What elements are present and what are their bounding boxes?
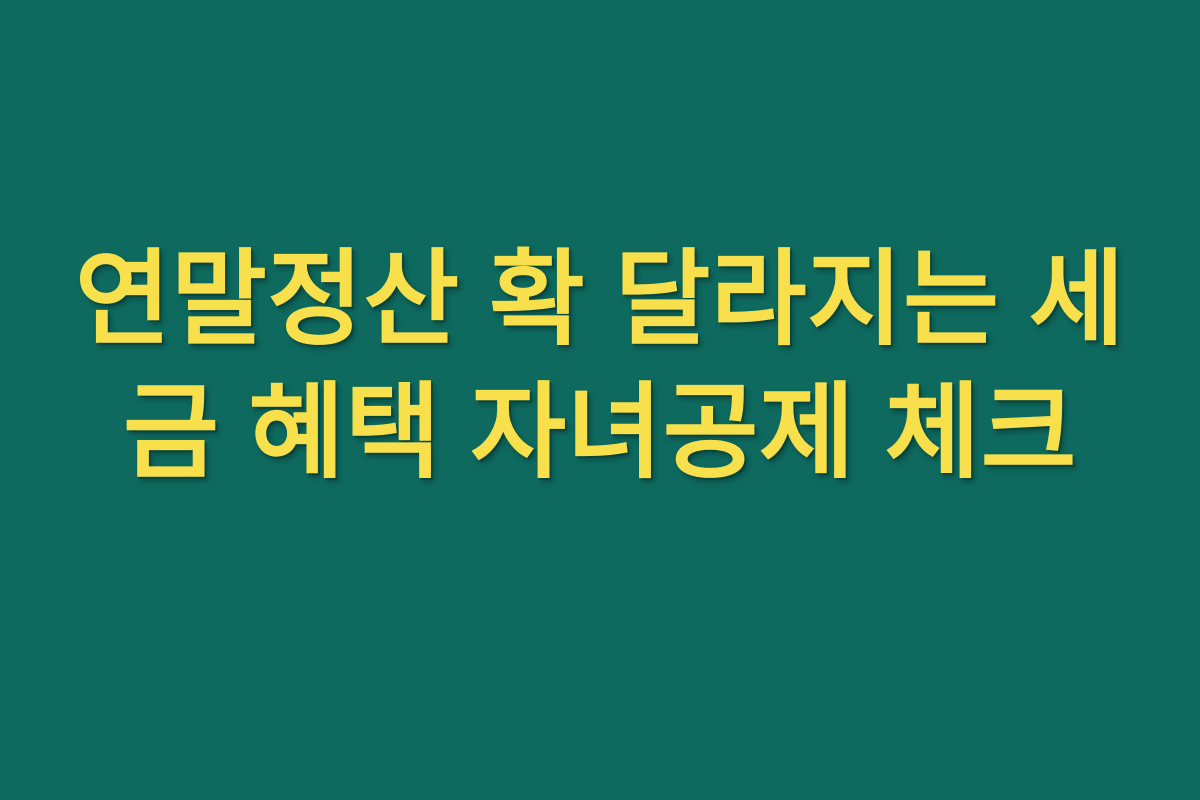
headline-text-block: 연말정산 확 달라지는 세 금 혜택 자녀공제 체크 (0, 0, 1200, 800)
headline-line-2: 금 혜택 자녀공제 체크 (0, 367, 1200, 500)
banner-canvas: 연말정산 확 달라지는 세 금 혜택 자녀공제 체크 (0, 0, 1200, 800)
headline-line-1: 연말정산 확 달라지는 세 (0, 234, 1200, 367)
